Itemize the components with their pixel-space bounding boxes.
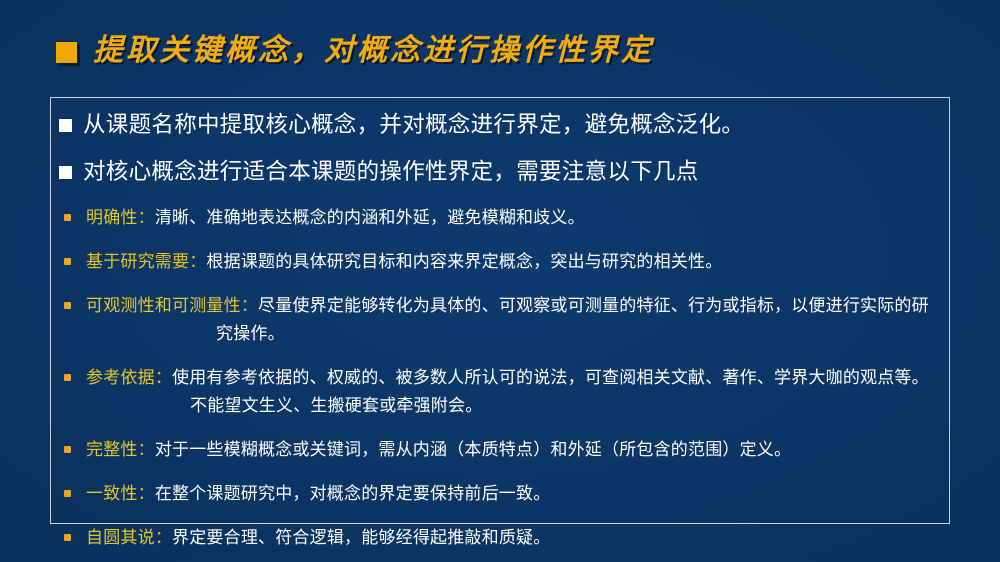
list-item-text: 清晰、准确地表达概念的内涵和外延，避免模糊和歧义。 xyxy=(155,208,585,228)
list-item-body: 明确性：清晰、准确地表达概念的内涵和外延，避免模糊和歧义。 xyxy=(86,204,941,232)
content-box: 从课题名称中提取核心概念，并对概念进行界定，避免概念泛化。 对核心概念进行适合本… xyxy=(50,97,950,524)
list-item-body: 参考依据：使用有参考依据的、权威的、被多数人所认可的说法，可查阅相关文献、著作、… xyxy=(86,364,941,420)
list-item-separator: ： xyxy=(155,368,172,388)
list-item-body: 完整性：对于一些模糊概念或关键词，需从内涵（本质特点）和外延（所包含的范围）定义… xyxy=(86,436,941,464)
title-square-bullet-icon xyxy=(56,42,77,63)
gold-dot-bullet-icon xyxy=(64,446,71,453)
list-item-text: 使用有参考依据的、权威的、被多数人所认可的说法，可查阅相关文献、著作、学界大咖的… xyxy=(172,368,929,416)
list-item-text: 尽量使界定能够转化为具体的、可观察或可测量的特征、行为或指标，以便进行实际的研究… xyxy=(216,296,929,344)
list-item-separator: ： xyxy=(138,440,155,460)
list-item-separator: ： xyxy=(189,252,206,272)
list-item-separator: ： xyxy=(138,484,155,504)
list-item-separator: ： xyxy=(241,296,258,316)
list-item-text: 界定要合理、符合逻辑，能够经得起推敲和质疑。 xyxy=(172,528,550,548)
list-item-body: 可观测性和可测量性：尽量使界定能够转化为具体的、可观察或可测量的特征、行为或指标… xyxy=(86,292,941,348)
list-item: 完整性：对于一些模糊概念或关键词，需从内涵（本质特点）和外延（所包含的范围）定义… xyxy=(59,436,941,464)
gold-dot-bullet-icon xyxy=(64,258,71,265)
list-item: 自圆其说：界定要合理、符合逻辑，能够经得起推敲和质疑。 xyxy=(59,524,941,552)
list-item-term: 基于研究需要 xyxy=(86,252,189,272)
list-item: 明确性：清晰、准确地表达概念的内涵和外延，避免模糊和歧义。 xyxy=(59,204,941,232)
list-item-term: 一致性 xyxy=(86,484,138,504)
list-item-text: 根据课题的具体研究目标和内容来界定概念，突出与研究的相关性。 xyxy=(206,252,722,272)
list-item-term: 明确性 xyxy=(86,208,138,228)
slide-title-text: 提取关键概念，对概念进行操作性界定 xyxy=(93,36,654,66)
heading-text-1: 从课题名称中提取核心概念，并对概念进行界定，避免概念泛化。 xyxy=(83,110,744,140)
sub-point-list: 明确性：清晰、准确地表达概念的内涵和外延，避免模糊和歧义。 基于研究需要：根据课… xyxy=(59,204,941,552)
white-square-bullet-icon xyxy=(59,119,72,132)
slide-canvas: 提取关键概念，对概念进行操作性界定 从课题名称中提取核心概念，并对概念进行界定，… xyxy=(0,0,1000,562)
list-item-body: 基于研究需要：根据课题的具体研究目标和内容来界定概念，突出与研究的相关性。 xyxy=(86,248,941,276)
list-item-separator: ： xyxy=(155,528,172,548)
gold-dot-bullet-icon xyxy=(64,534,71,541)
slide-title: 提取关键概念，对概念进行操作性界定 xyxy=(56,36,654,66)
gold-dot-bullet-icon xyxy=(64,214,71,221)
list-item: 一致性：在整个课题研究中，对概念的界定要保持前后一致。 xyxy=(59,480,941,508)
list-item-term: 可观测性和可测量性 xyxy=(86,296,241,316)
white-square-bullet-icon xyxy=(59,166,72,179)
list-item-separator: ： xyxy=(138,208,155,228)
list-item-term: 自圆其说 xyxy=(86,528,155,548)
list-item-term: 完整性 xyxy=(86,440,138,460)
heading-item-2: 对核心概念进行适合本课题的操作性界定，需要注意以下几点 xyxy=(59,157,939,187)
list-item-body: 自圆其说：界定要合理、符合逻辑，能够经得起推敲和质疑。 xyxy=(86,524,941,552)
list-item-body: 一致性：在整个课题研究中，对概念的界定要保持前后一致。 xyxy=(86,480,941,508)
list-item-term: 参考依据 xyxy=(86,368,155,388)
list-item: 参考依据：使用有参考依据的、权威的、被多数人所认可的说法，可查阅相关文献、著作、… xyxy=(59,364,941,420)
list-item-text: 在整个课题研究中，对概念的界定要保持前后一致。 xyxy=(155,484,551,504)
list-item: 可观测性和可测量性：尽量使界定能够转化为具体的、可观察或可测量的特征、行为或指标… xyxy=(59,292,941,348)
gold-dot-bullet-icon xyxy=(64,374,71,381)
heading-text-2: 对核心概念进行适合本课题的操作性界定，需要注意以下几点 xyxy=(83,157,699,187)
gold-dot-bullet-icon xyxy=(64,302,71,309)
heading-item-1: 从课题名称中提取核心概念，并对概念进行界定，避免概念泛化。 xyxy=(59,110,939,140)
list-item-text: 对于一些模糊概念或关键词，需从内涵（本质特点）和外延（所包含的范围）定义。 xyxy=(155,440,791,460)
list-item: 基于研究需要：根据课题的具体研究目标和内容来界定概念，突出与研究的相关性。 xyxy=(59,248,941,276)
gold-dot-bullet-icon xyxy=(64,490,71,497)
